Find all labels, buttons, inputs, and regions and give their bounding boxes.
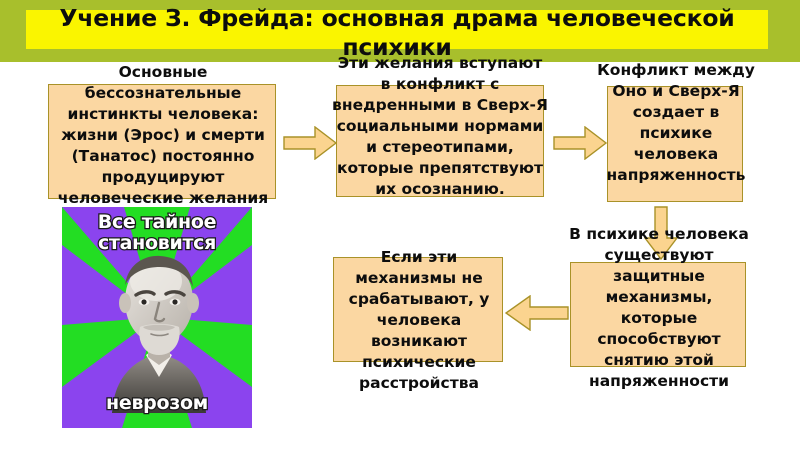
arrow-right-icon-1 [283,126,337,160]
freud-meme-image: Все тайное становится неврозом [62,207,252,428]
meme-caption-bottom: неврозом [62,393,252,414]
freud-portrait [102,243,214,413]
title-banner [0,0,800,62]
process-box-3 [607,86,743,202]
arrow-left-icon [505,295,569,331]
process-box-4 [570,262,746,367]
process-box-1 [48,84,276,199]
process-box-2 [336,85,544,197]
arrow-right-icon-2 [553,126,607,160]
arrow-down-icon [644,206,680,260]
meme-caption-top: Все тайное становится [62,212,252,254]
title-banner-inner [26,10,768,49]
process-box-5 [333,257,503,362]
